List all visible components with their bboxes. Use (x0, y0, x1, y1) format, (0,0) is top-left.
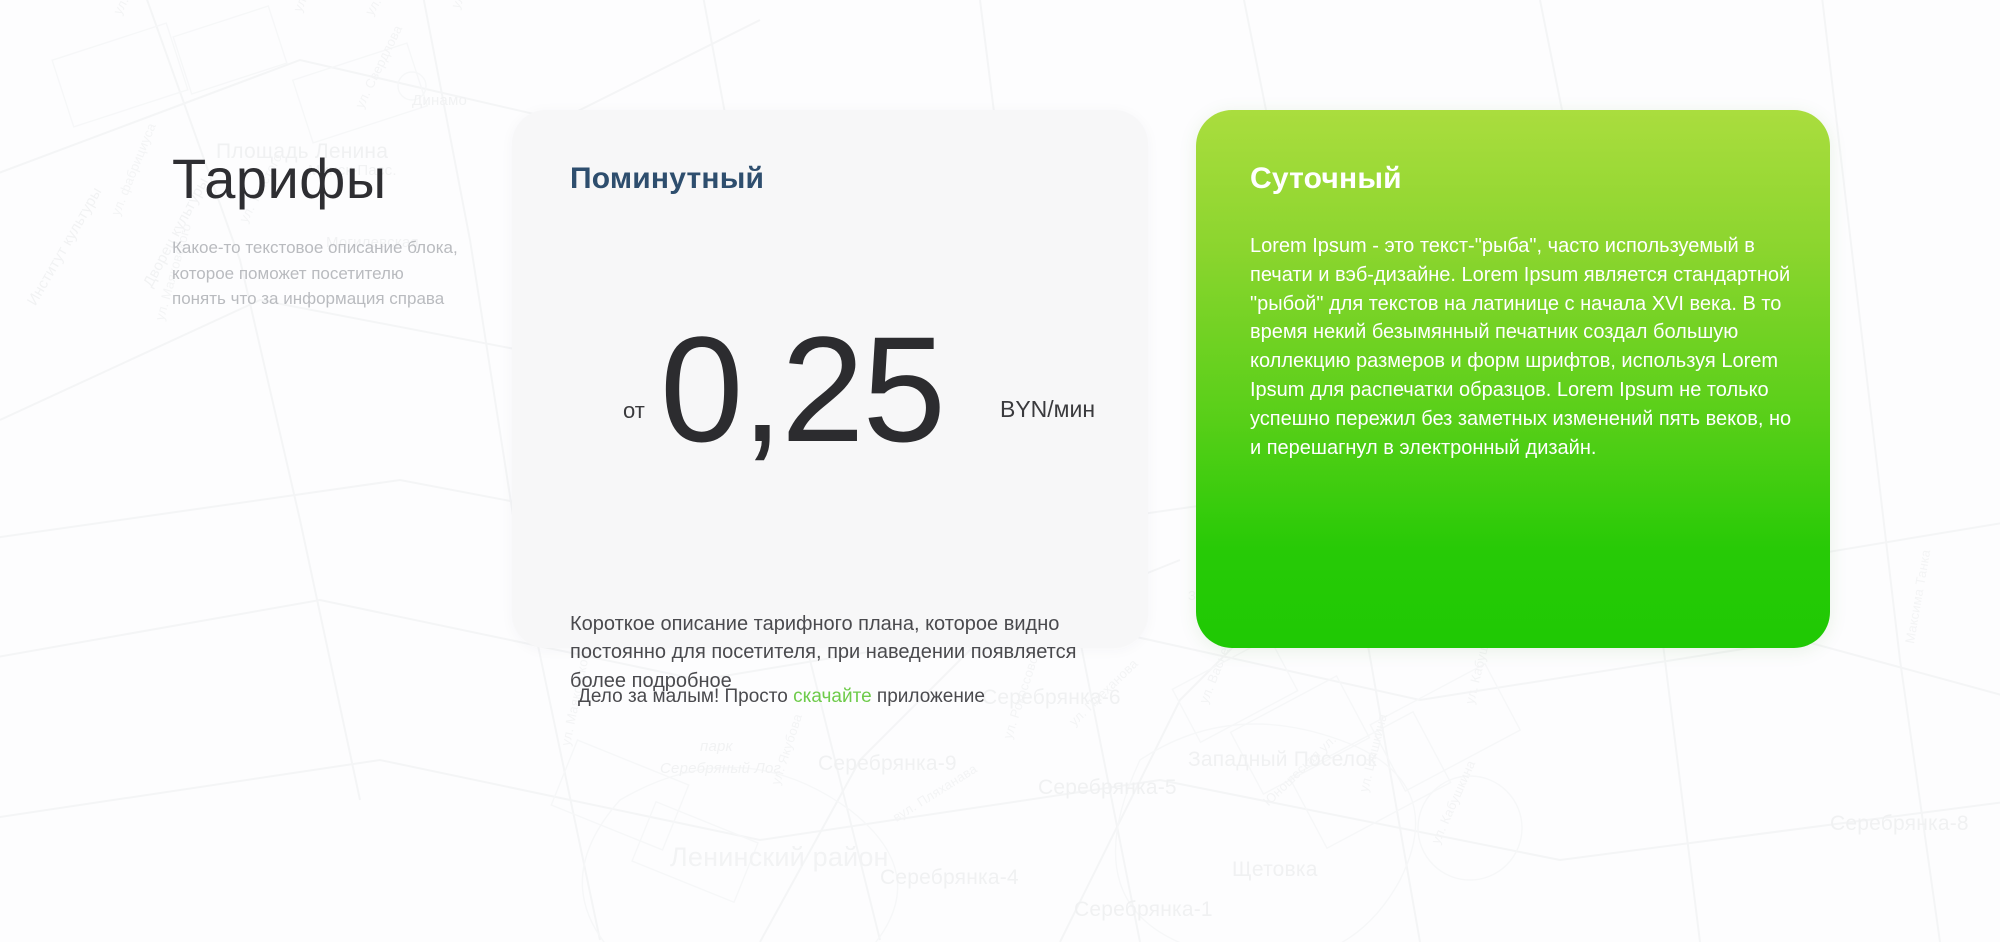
map-label: ул. Цеткин (110, 0, 154, 17)
download-callout: Дело за малым! Просто скачайте приложени… (578, 686, 985, 708)
page-title: Тарифы (172, 150, 462, 209)
price-value: 0,25 (660, 314, 944, 464)
intro-description: Какое-то текстовое описание блока, котор… (172, 235, 462, 312)
price-unit: BYN/мин (1000, 396, 1095, 423)
map-label: ул. фабрициуса (108, 121, 159, 218)
map-label: Ленинский район (670, 842, 889, 873)
price-prefix: от (623, 398, 645, 424)
download-callout-text-before: Дело за малым! Просто (578, 686, 793, 707)
map-label: парк (700, 738, 733, 755)
map-label: Серебрянка-1 (1074, 898, 1213, 922)
tariff-card-daily-title: Суточный (1250, 162, 1402, 196)
map-label: Серебрянка-8 (1830, 812, 1969, 836)
map-label: ул. Шишкина (1356, 712, 1390, 793)
map-label: Институт культуры (24, 184, 106, 308)
tariff-card-minute[interactable]: Поминутный от 0,25 BYN/мин Короткое опис… (512, 110, 1148, 648)
map-label: Серебрянка-9 (818, 752, 957, 776)
tariff-card-daily-description: Lorem Ipsum - это текст-"рыба", часто ис… (1250, 232, 1806, 462)
tariff-card-minute-title: Поминутный (570, 162, 764, 196)
download-app-link[interactable]: скачайте (793, 686, 872, 707)
map-label: ул. Карла Маркса (362, 0, 433, 18)
map-label: Серебрянка-5 (1038, 776, 1177, 800)
map-label: ул. Якубова (768, 712, 805, 787)
map-label: Щетовка (1232, 858, 1318, 882)
map-label: ул. Ленина (448, 0, 493, 11)
price-block: от 0,25 BYN/мин (568, 338, 1108, 488)
map-label: ул. Кабушкина (1428, 758, 1478, 846)
map-label: ул. Заславская (290, 0, 342, 14)
download-callout-text-after: приложение (872, 686, 985, 707)
map-label: Динамо (412, 92, 467, 109)
intro-block: Тарифы Какое-то текстовое описание блока… (172, 150, 462, 312)
map-label: Серебрянка-4 (880, 866, 1019, 890)
map-label: Юношеская ул. (1260, 732, 1339, 809)
map-label: Серебряный Лог (660, 760, 781, 777)
tariff-card-minute-description: Короткое описание тарифного плана, котор… (570, 610, 1130, 695)
map-label: Западный Поселок (1188, 748, 1377, 772)
map-label: Максима Танка (1902, 548, 1933, 644)
page-root: ул. Цеткинул. Заславскаяул. Карла Маркса… (0, 0, 2000, 942)
map-label: ул. Свердлова (352, 23, 405, 111)
map-label: вул. Пляханава (890, 761, 980, 825)
tariff-card-daily[interactable]: Суточный Lorem Ipsum - это текст-"рыба",… (1196, 110, 1830, 648)
